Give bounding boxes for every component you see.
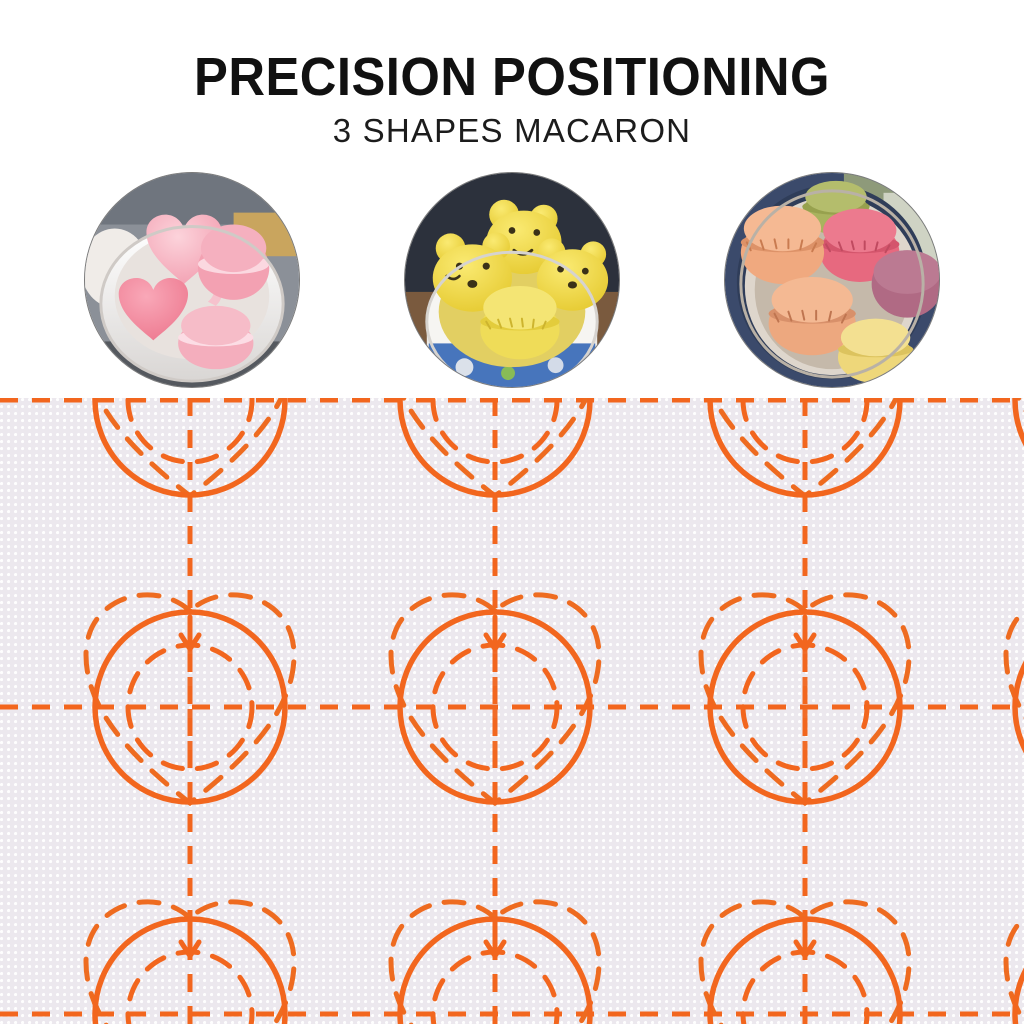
heart-macarons-image — [85, 173, 299, 387]
bear-macarons-image — [405, 173, 619, 387]
thumbnail-heart-macarons[interactable] — [84, 172, 300, 388]
thumbnail-round-macarons[interactable] — [724, 172, 940, 388]
page-subtitle: 3 SHAPES MACARON — [0, 112, 1024, 150]
header-banner: PRECISION POSITIONING 3 SHAPES MACARON — [0, 0, 1024, 398]
silicone-baking-mat — [0, 398, 1024, 1024]
mat-pattern — [0, 398, 1024, 1024]
page-title: PRECISION POSITIONING — [31, 50, 994, 104]
round-macarons-image — [725, 173, 939, 387]
thumbnail-bear-macarons[interactable] — [404, 172, 620, 388]
crosshair-overlay — [0, 645, 1024, 769]
positioning-guides — [86, 398, 1024, 1024]
